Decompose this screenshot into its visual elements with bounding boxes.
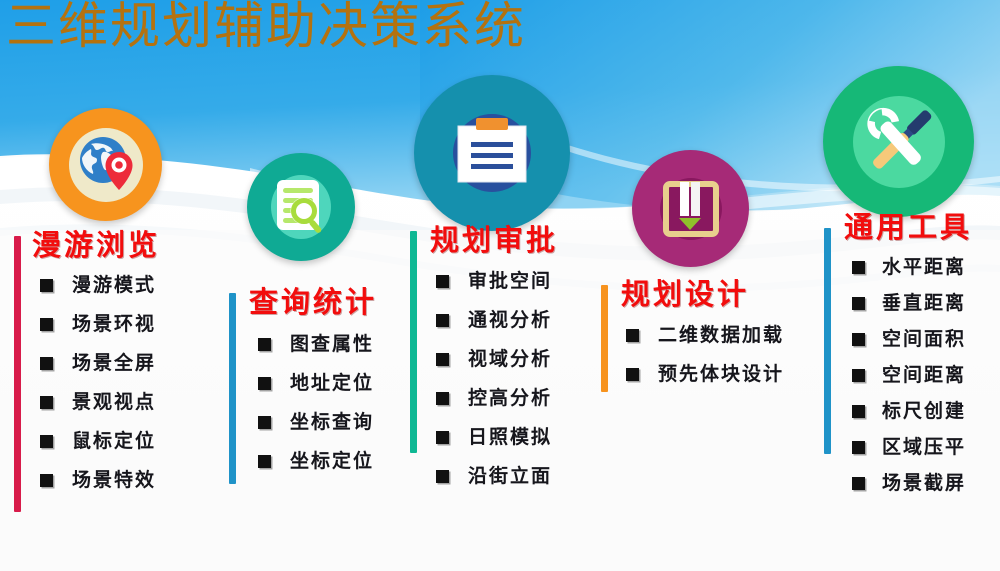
column-title: 漫游浏览 (32, 228, 160, 262)
bullet-square-icon (436, 470, 449, 483)
list-item[interactable]: 场景截屏 (852, 472, 972, 494)
list-item[interactable]: 鼠标定位 (40, 430, 160, 452)
list-item-label: 通视分析 (468, 309, 552, 331)
list-item[interactable]: 二维数据加载 (626, 324, 784, 346)
list-item-label: 场景截屏 (882, 472, 966, 494)
bullet-square-icon (258, 377, 271, 390)
list-item-label: 空间面积 (882, 328, 966, 350)
globe-location-pin-icon (69, 128, 143, 202)
column-title: 通用工具 (844, 210, 972, 244)
list-item-label: 审批空间 (468, 270, 552, 292)
list-item[interactable]: 空间面积 (852, 328, 972, 350)
bookmark-download-icon (660, 178, 722, 240)
list-item[interactable]: 通视分析 (436, 309, 558, 331)
list-item-label: 预先体块设计 (658, 363, 784, 385)
list-item-label: 图查属性 (290, 333, 374, 355)
badge-inner-query (271, 175, 331, 239)
feature-list-roam: 漫游模式 场景环视 场景全屏 景观视点 鼠标定位 场景特效 (40, 274, 160, 491)
column-heading-query: 查询统计 (229, 285, 377, 319)
list-item[interactable]: 空间距离 (852, 364, 972, 386)
list-item-label: 垂直距离 (882, 292, 966, 314)
column-heading-roam: 漫游浏览 (14, 228, 160, 262)
badge-inner-roam (69, 128, 143, 202)
column-heading-approval: 规划审批 (410, 223, 558, 257)
category-column-design: 规划设计 二维数据加载 预先体块设计 (601, 277, 784, 402)
page-title: 三维规划辅助决策系统 (6, 0, 526, 54)
column-title: 查询统计 (249, 285, 377, 319)
bullet-square-icon (626, 329, 639, 342)
bullet-square-icon (852, 333, 865, 346)
bullet-square-icon (40, 279, 53, 292)
bullet-square-icon (436, 314, 449, 327)
list-item-label: 地址定位 (290, 372, 374, 394)
slide-canvas: 三维规划辅助决策系统 (0, 0, 1000, 571)
bullet-square-icon (436, 353, 449, 366)
feature-list-design: 二维数据加载 预先体块设计 (626, 324, 784, 385)
list-item[interactable]: 预先体块设计 (626, 363, 784, 385)
list-item-label: 鼠标定位 (72, 430, 156, 452)
list-item-label: 视域分析 (468, 348, 552, 370)
list-item[interactable]: 沿街立面 (436, 465, 558, 487)
category-column-approval: 规划审批 审批空间 通视分析 视域分析 控高分析 日照模拟 (410, 223, 558, 504)
bullet-square-icon (436, 392, 449, 405)
accent-bar-tools (824, 228, 831, 454)
list-item-label: 二维数据加载 (658, 324, 784, 346)
list-item-label: 沿街立面 (468, 465, 552, 487)
badge-circle-query[interactable] (247, 153, 355, 261)
list-item[interactable]: 地址定位 (258, 372, 377, 394)
badge-circle-tools[interactable] (823, 66, 974, 217)
list-item[interactable]: 场景环视 (40, 313, 160, 335)
bullet-square-icon (40, 435, 53, 448)
list-item[interactable]: 控高分析 (436, 387, 558, 409)
badge-circle-design[interactable] (632, 150, 749, 267)
clipboard-icon (453, 114, 531, 192)
column-heading-tools: 通用工具 (824, 210, 972, 244)
bullet-square-icon (852, 369, 865, 382)
list-item-label: 空间距离 (882, 364, 966, 386)
bullet-square-icon (40, 474, 53, 487)
feature-list-approval: 审批空间 通视分析 视域分析 控高分析 日照模拟 沿街立面 (436, 270, 558, 487)
bullet-square-icon (258, 416, 271, 429)
badge-circle-roam[interactable] (49, 108, 162, 221)
bullet-square-icon (258, 455, 271, 468)
list-item[interactable]: 标尺创建 (852, 400, 972, 422)
list-item[interactable]: 景观视点 (40, 391, 160, 413)
list-item[interactable]: 坐标查询 (258, 411, 377, 433)
badge-inner-design (660, 178, 722, 240)
list-item[interactable]: 视域分析 (436, 348, 558, 370)
list-item-label: 场景环视 (72, 313, 156, 335)
bullet-square-icon (852, 405, 865, 418)
bullet-square-icon (258, 338, 271, 351)
category-column-roam: 漫游浏览 漫游模式 场景环视 场景全屏 景观视点 鼠标定位 (14, 228, 160, 508)
bullet-square-icon (40, 396, 53, 409)
wrench-screwdriver-icon (853, 96, 945, 188)
list-item[interactable]: 场景特效 (40, 469, 160, 491)
list-item-label: 坐标查询 (290, 411, 374, 433)
category-column-query: 查询统计 图查属性 地址定位 坐标查询 坐标定位 (229, 285, 377, 489)
accent-bar-approval (410, 231, 417, 453)
list-item-label: 坐标定位 (290, 450, 374, 472)
document-search-icon (271, 175, 331, 239)
badge-inner-tools (853, 96, 945, 188)
column-heading-design: 规划设计 (601, 277, 784, 311)
list-item-label: 场景全屏 (72, 352, 156, 374)
list-item[interactable]: 图查属性 (258, 333, 377, 355)
accent-bar-query (229, 293, 236, 484)
badge-circle-approval[interactable] (414, 75, 570, 231)
column-title: 规划审批 (430, 223, 558, 257)
list-item-label: 景观视点 (72, 391, 156, 413)
bullet-square-icon (436, 275, 449, 288)
list-item[interactable]: 场景全屏 (40, 352, 160, 374)
bullet-square-icon (852, 441, 865, 454)
list-item-label: 场景特效 (72, 469, 156, 491)
list-item[interactable]: 坐标定位 (258, 450, 377, 472)
list-item-label: 日照模拟 (468, 426, 552, 448)
bullet-square-icon (626, 368, 639, 381)
list-item[interactable]: 审批空间 (436, 270, 558, 292)
list-item-label: 漫游模式 (72, 274, 156, 296)
bullet-square-icon (852, 297, 865, 310)
list-item-label: 标尺创建 (882, 400, 966, 422)
list-item[interactable]: 日照模拟 (436, 426, 558, 448)
badge-inner-approval (453, 114, 531, 192)
list-item[interactable]: 漫游模式 (40, 274, 160, 296)
list-item-label: 水平距离 (882, 256, 966, 278)
bullet-square-icon (852, 261, 865, 274)
list-item[interactable]: 垂直距离 (852, 292, 972, 314)
list-item[interactable]: 区域压平 (852, 436, 972, 458)
feature-list-tools: 水平距离 垂直距离 空间面积 空间距离 标尺创建 区域压平 (852, 256, 972, 494)
feature-list-query: 图查属性 地址定位 坐标查询 坐标定位 (258, 333, 377, 472)
bullet-square-icon (40, 318, 53, 331)
accent-bar-roam (14, 236, 21, 512)
list-item-label: 区域压平 (882, 436, 966, 458)
category-column-tools: 通用工具 水平距离 垂直距离 空间面积 空间距离 标尺创建 (824, 210, 972, 508)
bullet-square-icon (436, 431, 449, 444)
column-title: 规划设计 (621, 277, 749, 311)
bullet-square-icon (40, 357, 53, 370)
list-item[interactable]: 水平距离 (852, 256, 972, 278)
list-item-label: 控高分析 (468, 387, 552, 409)
bullet-square-icon (852, 477, 865, 490)
